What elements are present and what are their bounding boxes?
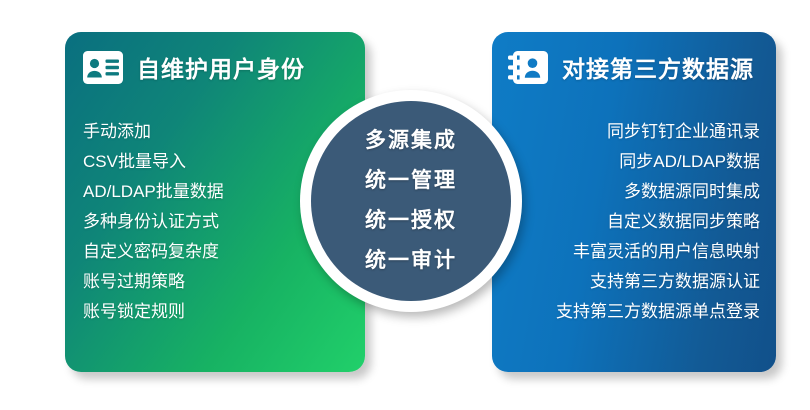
left-panel-feature-list: 手动添加 CSV批量导入 AD/LDAP批量数据 多种身份认证方式 自定义密码复… [83, 117, 224, 327]
list-item: CSV批量导入 [83, 147, 224, 177]
list-item: 手动添加 [83, 117, 224, 147]
list-item: 多数据源同时集成 [556, 177, 760, 207]
list-item: 同步AD/LDAP数据 [556, 147, 760, 177]
infographic-stage: 自维护用户身份 手动添加 CSV批量导入 AD/LDAP批量数据 多种身份认证方… [0, 0, 810, 410]
address-book-icon [508, 51, 548, 84]
left-panel-header: 自维护用户身份 [83, 50, 305, 84]
center-line: 统一管理 [365, 162, 457, 200]
right-panel-feature-list: 同步钉钉企业通讯录 同步AD/LDAP数据 多数据源同时集成 自定义数据同步策略… [556, 117, 760, 327]
right-panel-header: 对接第三方数据源 [508, 50, 754, 84]
list-item: 支持第三方数据源单点登录 [556, 297, 760, 327]
center-line: 多源集成 [365, 122, 457, 160]
center-circle-inner: 多源集成 统一管理 统一授权 统一审计 [311, 101, 511, 301]
list-item: AD/LDAP批量数据 [83, 177, 224, 207]
id-card-icon [83, 51, 123, 84]
list-item: 账号锁定规则 [83, 297, 224, 327]
list-item: 支持第三方数据源认证 [556, 267, 760, 297]
left-panel-title: 自维护用户身份 [137, 50, 305, 84]
list-item: 多种身份认证方式 [83, 207, 224, 237]
right-panel-third-party-datasource: 对接第三方数据源 同步钉钉企业通讯录 同步AD/LDAP数据 多数据源同时集成 … [492, 32, 776, 372]
list-item: 同步钉钉企业通讯录 [556, 117, 760, 147]
list-item: 账号过期策略 [83, 267, 224, 297]
center-circle: 多源集成 统一管理 统一授权 统一审计 [300, 90, 522, 312]
list-item: 自定义密码复杂度 [83, 237, 224, 267]
center-line: 统一审计 [365, 242, 457, 280]
list-item: 丰富灵活的用户信息映射 [556, 237, 760, 267]
center-line: 统一授权 [365, 202, 457, 240]
list-item: 自定义数据同步策略 [556, 207, 760, 237]
right-panel-title: 对接第三方数据源 [562, 50, 754, 84]
